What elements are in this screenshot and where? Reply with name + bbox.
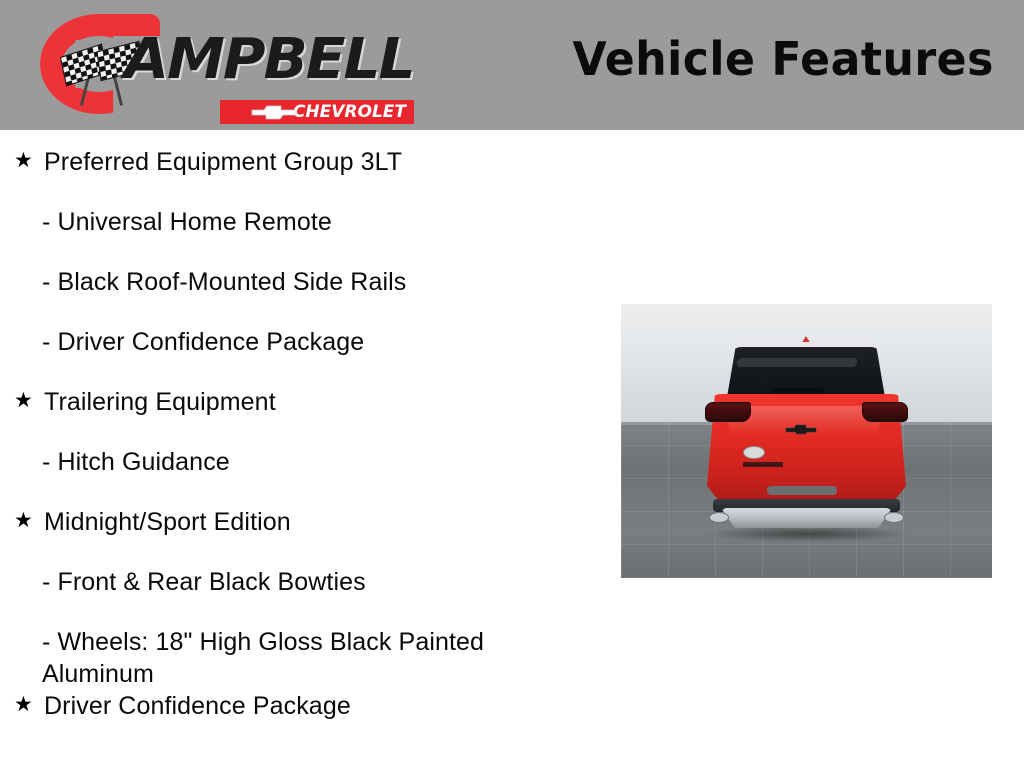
list-item-label: - Driver Confidence Package xyxy=(42,326,600,358)
list-item-label: Midnight/Sport Edition xyxy=(14,506,600,538)
list-item: - Wheels: 18" High Gloss Black Painted A… xyxy=(0,626,600,690)
vehicle-features-list: ★ Preferred Equipment Group 3LT - Univer… xyxy=(0,130,600,750)
exhaust-tip-right xyxy=(884,512,904,523)
chevrolet-bowtie-icon xyxy=(250,104,298,120)
list-item-label: Driver Confidence Package xyxy=(14,690,600,722)
list-item-label: - Front & Rear Black Bowties xyxy=(42,566,600,598)
list-item: - Hitch Guidance xyxy=(0,446,600,506)
star-bullet-icon: ★ xyxy=(14,508,33,534)
page-title: Vehicle Features xyxy=(573,36,994,82)
chevrolet-bowtie-icon xyxy=(785,422,817,433)
list-item-label: - Universal Home Remote xyxy=(42,206,600,238)
rear-bumper xyxy=(721,508,892,528)
list-item: ★ Driver Confidence Package xyxy=(0,690,600,750)
list-item: ★ Midnight/Sport Edition xyxy=(0,506,600,566)
list-item: ★ Trailering Equipment xyxy=(0,386,600,446)
suv-rear-view xyxy=(699,336,914,544)
list-item-label: Trailering Equipment xyxy=(14,386,600,418)
vehicle-photo xyxy=(621,304,992,578)
list-item: - Front & Rear Black Bowties xyxy=(0,566,600,626)
header-band: AMPBELL CHEVROLET Vehicle Features xyxy=(0,0,1024,130)
star-bullet-icon: ★ xyxy=(14,692,33,718)
exhaust-tip-left xyxy=(709,512,729,523)
rear-emblem xyxy=(743,446,765,459)
chevrolet-banner: CHEVROLET xyxy=(220,100,414,124)
list-item: - Black Roof-Mounted Side Rails xyxy=(0,266,600,326)
star-bullet-icon: ★ xyxy=(14,148,33,174)
list-item-label: Preferred Equipment Group 3LT xyxy=(14,146,600,178)
star-bullet-icon: ★ xyxy=(14,388,33,414)
model-badge xyxy=(743,462,783,467)
dealership-logo: AMPBELL CHEVROLET xyxy=(38,8,383,124)
vehicle-shadow xyxy=(707,526,907,542)
list-item: - Universal Home Remote xyxy=(0,206,600,266)
list-item: ★ Preferred Equipment Group 3LT xyxy=(0,146,600,206)
taillight-left xyxy=(705,402,751,422)
list-item-label: - Wheels: 18" High Gloss Black Painted A… xyxy=(42,626,600,690)
list-item: - Driver Confidence Package xyxy=(0,326,600,386)
tailgate-handle xyxy=(767,486,837,495)
rear-window-highlight xyxy=(736,358,858,367)
list-item-label: - Black Roof-Mounted Side Rails xyxy=(42,266,600,298)
list-item-label: - Hitch Guidance xyxy=(42,446,600,478)
logo-wordmark: AMPBELL xyxy=(124,32,414,88)
chevrolet-banner-label: CHEVROLET xyxy=(293,104,406,121)
taillight-right xyxy=(862,402,908,422)
